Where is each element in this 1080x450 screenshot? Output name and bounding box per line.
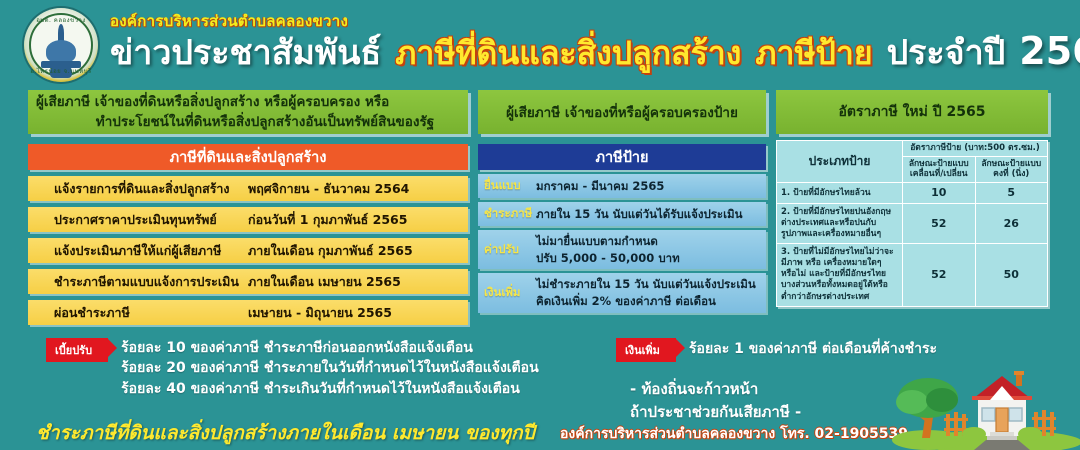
caption-land-taxpayer: ผู้เสียภาษี เจ้าของที่ดินหรือสิ่งปลูกสร้… — [28, 90, 468, 134]
rate-row-description: 1. ป้ายที่มีอักษรไทยล้วน — [777, 182, 903, 203]
sign-tax-row-label: เงินเพิ่ม — [478, 284, 536, 302]
year-label: ประจำปี — [887, 25, 1006, 79]
land-tax-row: ชำระภาษีตามแบบแจ้งการประเมินภายในเดือน เ… — [28, 269, 468, 294]
fine-line: ร้อยละ 40 ของค่าภาษี ชำระเกินวันที่กำหนด… — [121, 379, 539, 399]
sign-tax-row-label: ยื่นแบบ — [478, 177, 536, 195]
sign-tax-detail-line: มกราคม - มีนาคม 2565 — [536, 178, 762, 195]
land-tax-section: ภาษีที่ดินและสิ่งปลูกสร้าง แจ้งรายการที่… — [28, 144, 468, 325]
sign-tax-row-detail: ไม่มายื่นแบบตามกำหนดปรับ 5,000 - 50,000 … — [536, 230, 766, 269]
rate-row-moving-value: 10 — [903, 182, 976, 203]
rate-table-row: 3. ป้ายที่ไม่มีอักษรไทยไม่ว่าจะมีภาพ หรื… — [777, 244, 1048, 306]
land-tax-heading: ภาษีที่ดินและสิ่งปลูกสร้าง — [28, 144, 468, 170]
land-tax-row-label: ผ่อนชำระภาษี — [28, 303, 242, 323]
sign-tax-section: ภาษีป้าย ยื่นแบบมกราคม - มีนาคม 2565ชำระ… — [478, 144, 766, 313]
house-illustration — [890, 350, 1080, 450]
sign-tax-row-detail: ภายใน 15 วัน นับแต่วันได้รับแจ้งประเมิน — [536, 203, 766, 226]
sign-tax-detail-line: ไม่มายื่นแบบตามกำหนด — [536, 233, 762, 250]
caption-sign-taxpayer: ผู้เสียภาษี เจ้าของที่หรือผู้ครอบครองป้า… — [478, 90, 766, 134]
caption-new-rate: อัตราภาษี ใหม่ ปี 2565 — [776, 90, 1048, 134]
bush-right — [1018, 427, 1042, 441]
land-tax-row-label: แจ้งประเมินภาษีให้แก่ผู้เสียภาษี — [28, 241, 242, 261]
topic-land-tax: ภาษีที่ดินและสิ่งปลูกสร้าง — [395, 28, 741, 79]
land-tax-row-period: เมษายน - มิถุนายน 2565 — [242, 303, 468, 323]
sign-rate-table-wrapper: ประเภทป้าย อัตราภาษีป้าย (บาท:500 ตร.ซม.… — [776, 140, 1048, 307]
caption-land-line1: ผู้เสียภาษี เจ้าของที่ดินหรือสิ่งปลูกสร้… — [36, 92, 460, 112]
emblem-bottom-text: อ.ไทรน้อย จ.นนทบุรี — [30, 66, 91, 76]
land-tax-schedule-list: แจ้งรายการที่ดินและสิ่งปลูกสร้างพฤศจิกาย… — [28, 176, 468, 325]
rate-header-fixed: ลักษณะป้ายแบบคงที่ (นิ่ง) — [975, 156, 1048, 182]
topic-sign-tax: ภาษีป้าย — [755, 28, 872, 79]
sign-tax-row-detail: มกราคม - มีนาคม 2565 — [536, 175, 766, 198]
slogan-line-2: ถ้าประชาช่วยกันเสียภาษี - — [630, 401, 801, 424]
sign-tax-row-detail: ไม่ชำระภายใน 15 วัน นับแต่วันแจ้งประเมิน… — [536, 273, 766, 312]
sign-tax-row: ค่าปรับไม่มายื่นแบบตามกำหนดปรับ 5,000 - … — [478, 230, 766, 269]
land-tax-row-period: ภายในเดือน เมษายน 2565 — [242, 272, 468, 292]
header-banner: อบต. คลองขวาง อ.ไทรน้อย จ.นนทบุรี องค์กา… — [0, 0, 1080, 86]
rate-row-description: 2. ป้ายที่มีอักษรไทยปนอังกฤษต่างประเทศแล… — [777, 204, 903, 244]
rate-row-description: 3. ป้ายที่ไม่มีอักษรไทยไม่ว่าจะมีภาพ หรื… — [777, 244, 903, 306]
fine-lines-list: ร้อยละ 10 ของค่าภาษี ชำระภาษีก่อนออกหนัง… — [121, 338, 539, 399]
contact-info: องค์การบริหารส่วนตำบลคลองขวาง โทร. 02-19… — [560, 423, 908, 445]
land-tax-row-label: แจ้งรายการที่ดินและสิ่งปลูกสร้าง — [28, 179, 242, 199]
rate-header-group: อัตราภาษีป้าย (บาท:500 ตร.ซม.) — [903, 141, 1048, 157]
page-title: ข่าวประชาสัมพันธ์ ภาษีที่ดินและสิ่งปลูกส… — [110, 25, 1080, 79]
caption-rate-text: อัตราภาษี ใหม่ ปี 2565 — [839, 101, 986, 123]
rate-row-moving-value: 52 — [903, 204, 976, 244]
land-tax-row-label: ประกาศราคาประเมินทุนทรัพย์ — [28, 210, 242, 230]
news-label: ข่าวประชาสัมพันธ์ — [110, 25, 381, 79]
bush-left — [962, 427, 986, 441]
land-tax-row-period: พฤศจิกายน - ธันวาคม 2564 — [242, 179, 468, 199]
fine-tag: เบี้ยปรับ — [46, 338, 108, 362]
sign-tax-detail-line: ปรับ 5,000 - 50,000 บาท — [536, 250, 762, 267]
fine-line: ร้อยละ 20 ของค่าภาษี ชำระภายในวันที่กำหน… — [121, 358, 539, 378]
slogan-block: - ท้องถิ่นจะก้าวหน้า ถ้าประชาช่วยกันเสีย… — [630, 378, 801, 423]
sign-tax-row: ชำระภาษีภายใน 15 วัน นับแต่วันได้รับแจ้ง… — [478, 202, 766, 226]
sign-tax-schedule-list: ยื่นแบบมกราคม - มีนาคม 2565ชำระภาษีภายใน… — [478, 174, 766, 313]
slogan-line-1: - ท้องถิ่นจะก้าวหน้า — [630, 378, 801, 401]
rate-table-header-row-1: ประเภทป้าย อัตราภาษีป้าย (บาท:500 ตร.ซม.… — [777, 141, 1048, 157]
sign-tax-row: เงินเพิ่มไม่ชำระภายใน 15 วัน นับแต่วันแจ… — [478, 273, 766, 312]
sign-tax-detail-line: ภายใน 15 วัน นับแต่วันได้รับแจ้งประเมิน — [536, 206, 762, 223]
municipality-emblem-icon: อบต. คลองขวาง อ.ไทรน้อย จ.นนทบุรี — [24, 8, 98, 82]
fine-line: ร้อยละ 10 ของค่าภาษี ชำระภาษีก่อนออกหนัง… — [121, 338, 539, 358]
rate-header-moving: ลักษณะป้ายแบบเคลื่อนที่/เปลี่ยน — [903, 156, 976, 182]
land-tax-row: ประกาศราคาประเมินทุนทรัพย์ก่อนวันที่ 1 ก… — [28, 207, 468, 232]
rate-table-row: 2. ป้ายที่มีอักษรไทยปนอังกฤษต่างประเทศแล… — [777, 204, 1048, 244]
land-tax-row: ผ่อนชำระภาษีเมษายน - มิถุนายน 2565 — [28, 300, 468, 325]
land-tax-row: แจ้งประเมินภาษีให้แก่ผู้เสียภาษีภายในเดื… — [28, 238, 468, 263]
rate-row-moving-value: 52 — [903, 244, 976, 306]
infographic-page: อบต. คลองขวาง อ.ไทรน้อย จ.นนทบุรี องค์กา… — [0, 0, 1080, 450]
payment-reminder: ชำระภาษีที่ดินและสิ่งปลูกสร้างภายในเดือน… — [36, 418, 535, 448]
sign-tax-heading: ภาษีป้าย — [478, 144, 766, 170]
land-tax-row: แจ้งรายการที่ดินและสิ่งปลูกสร้างพฤศจิกาย… — [28, 176, 468, 201]
land-tax-row-period: ภายในเดือน กุมภาพันธ์ 2565 — [242, 241, 468, 261]
rate-row-fixed-value: 5 — [975, 182, 1048, 203]
land-tax-row-label: ชำระภาษีตามแบบแจ้งการประเมิน — [28, 272, 242, 292]
surcharge-tag: เงินเพิ่ม — [616, 338, 676, 362]
sign-rate-table: ประเภทป้าย อัตราภาษีป้าย (บาท:500 ตร.ซม.… — [776, 140, 1048, 307]
caption-sign-text: ผู้เสียภาษี เจ้าของที่หรือผู้ครอบครองป้า… — [506, 101, 738, 123]
sign-tax-detail-line: ไม่ชำระภายใน 15 วัน นับแต่วันแจ้งประเมิน — [536, 276, 762, 293]
sign-tax-row: ยื่นแบบมกราคม - มีนาคม 2565 — [478, 174, 766, 198]
rate-row-fixed-value: 26 — [975, 204, 1048, 244]
rate-header-type: ประเภทป้าย — [777, 141, 903, 183]
sign-tax-row-label: ชำระภาษี — [478, 205, 536, 223]
sign-tax-detail-line: คิดเงินเพิ่ม 2% ของค่าภาษี ต่อเดือน — [536, 293, 762, 310]
rate-table-row: 1. ป้ายที่มีอักษรไทยล้วน105 — [777, 182, 1048, 203]
fine-block: เบี้ยปรับ ร้อยละ 10 ของค่าภาษี ชำระภาษีก… — [46, 338, 606, 399]
caption-land-line2: ทำประโยชน์ในที่ดินหรือสิ่งปลูกสร้างอันเป… — [36, 112, 460, 132]
rate-table-body: 1. ป้ายที่มีอักษรไทยล้วน1052. ป้ายที่มีอ… — [777, 182, 1048, 306]
rate-table-head: ประเภทป้าย อัตราภาษีป้าย (บาท:500 ตร.ซม.… — [777, 141, 1048, 183]
land-tax-row-period: ก่อนวันที่ 1 กุมภาพันธ์ 2565 — [242, 210, 468, 230]
rate-row-fixed-value: 50 — [975, 244, 1048, 306]
sign-tax-row-label: ค่าปรับ — [478, 241, 536, 259]
year-value: 2565 — [1019, 29, 1080, 73]
